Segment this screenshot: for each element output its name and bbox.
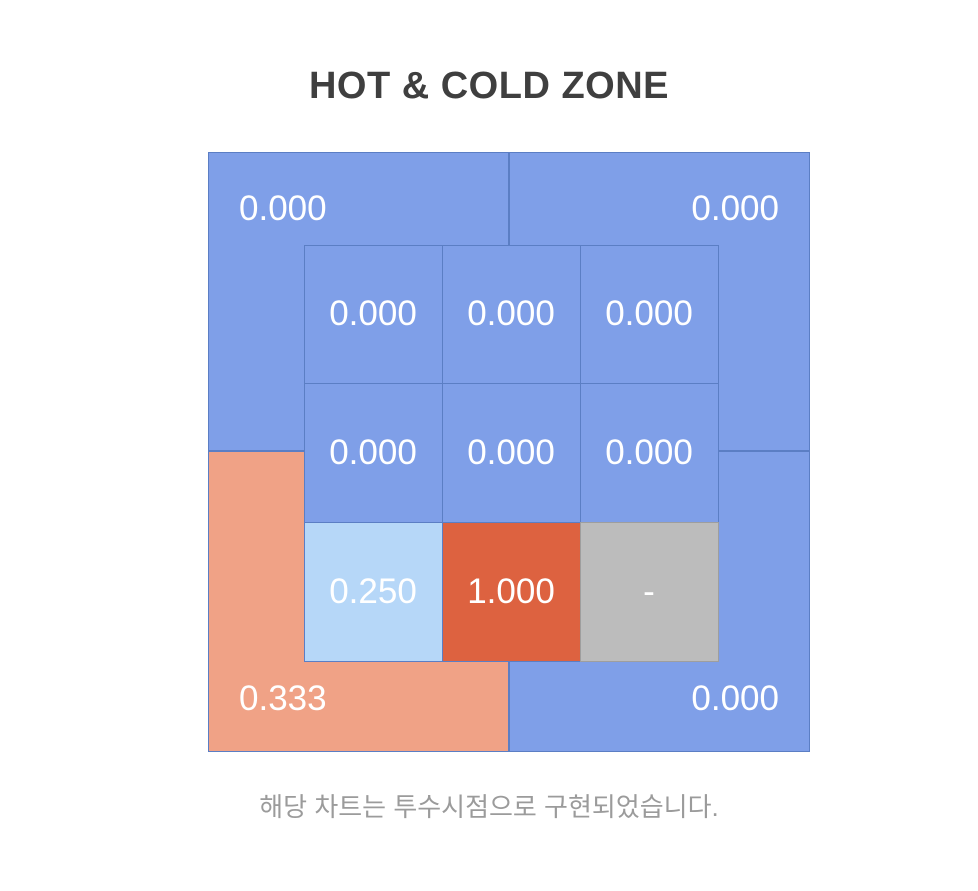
- strike-zone-cell-2[interactable]: 0.000: [442, 245, 581, 385]
- outer-zone-bottom-left-value: 0.333: [239, 679, 327, 719]
- page-root: HOT & COLD ZONE 0.000 0.000 0.333 0.000 …: [0, 0, 978, 891]
- strike-zone-grid: 0.000 0.000 0.000 0.000 0.000 0.000 0.25…: [304, 245, 718, 661]
- strike-zone-cell-1[interactable]: 0.000: [304, 245, 443, 385]
- strike-zone-cell-1-value: 0.000: [329, 294, 417, 334]
- strike-zone-cell-3[interactable]: 0.000: [580, 245, 719, 385]
- strike-zone-cell-2-value: 0.000: [467, 294, 555, 334]
- outer-zone-bottom-right-value: 0.000: [691, 679, 779, 719]
- strike-zone-cell-9-value: -: [643, 572, 655, 612]
- hot-cold-zone-chart: 0.000 0.000 0.333 0.000 0.000 0.000 0.00…: [208, 152, 808, 750]
- strike-zone-cell-7[interactable]: 0.250: [304, 522, 443, 662]
- strike-zone-cell-5[interactable]: 0.000: [442, 383, 581, 523]
- strike-zone-cell-6[interactable]: 0.000: [580, 383, 719, 523]
- outer-zone-top-right-value: 0.000: [691, 189, 779, 229]
- outer-zone-top-left-value: 0.000: [239, 189, 327, 229]
- strike-zone-cell-7-value: 0.250: [329, 572, 417, 612]
- strike-zone-cell-3-value: 0.000: [605, 294, 693, 334]
- strike-zone-cell-5-value: 0.000: [467, 433, 555, 473]
- strike-zone-cell-4[interactable]: 0.000: [304, 383, 443, 523]
- strike-zone-cell-4-value: 0.000: [329, 433, 417, 473]
- strike-zone-cell-8-value: 1.000: [467, 572, 555, 612]
- strike-zone-cell-8[interactable]: 1.000: [442, 522, 581, 662]
- chart-caption: 해당 차트는 투수시점으로 구현되었습니다.: [0, 790, 978, 824]
- strike-zone-cell-9[interactable]: -: [580, 522, 719, 662]
- strike-zone-cell-6-value: 0.000: [605, 433, 693, 473]
- page-title: HOT & COLD ZONE: [0, 62, 978, 110]
